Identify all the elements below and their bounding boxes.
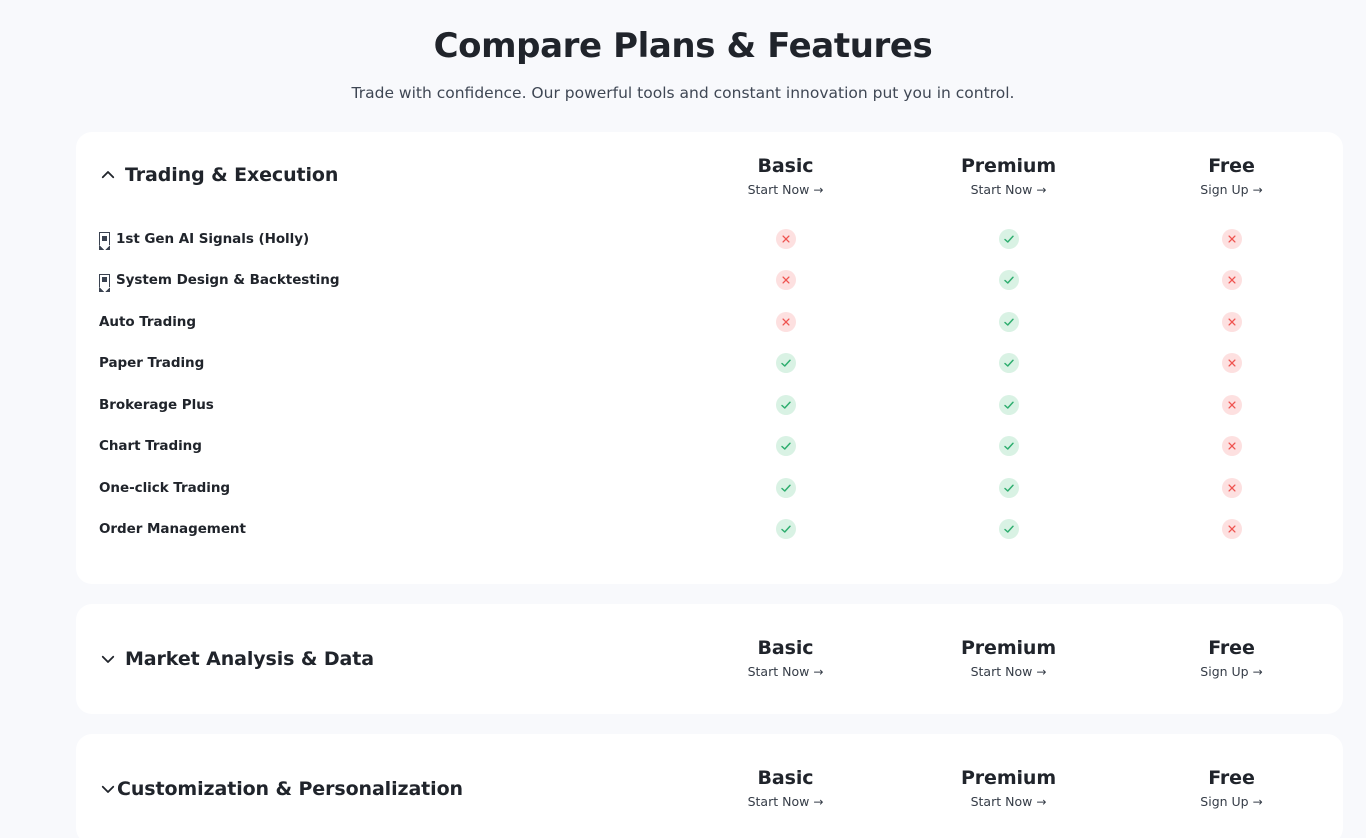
feature-row: One-click Trading [76, 467, 1343, 509]
feature-cell-premium [897, 270, 1120, 290]
cross-icon [1222, 436, 1242, 456]
feature-name: Order Management [99, 521, 674, 537]
check-icon [999, 395, 1019, 415]
feature-cell-basic [674, 478, 897, 498]
feature-cell-basic [674, 519, 897, 539]
badge-icon [99, 274, 110, 287]
arrow-right-icon: → [1253, 795, 1263, 809]
feature-values [674, 312, 1343, 332]
feature-list: 1st Gen AI Signals (Holly)System Design … [76, 218, 1343, 550]
plan-cta-free[interactable]: Sign Up→ [1120, 794, 1343, 810]
feature-label: Chart Trading [99, 438, 202, 454]
feature-cell-premium [897, 478, 1120, 498]
plan-column-free: FreeSign Up→ [1120, 766, 1343, 810]
plan-cta-label: Sign Up [1200, 182, 1248, 197]
plan-cta-free[interactable]: Sign Up→ [1120, 664, 1343, 680]
check-icon [776, 519, 796, 539]
feature-name: Brokerage Plus [99, 397, 674, 413]
plan-name: Free [1120, 636, 1343, 660]
feature-cell-free [1120, 436, 1343, 456]
plan-cta-premium[interactable]: Start Now→ [897, 664, 1120, 680]
cross-icon [1222, 270, 1242, 290]
feature-cell-premium [897, 519, 1120, 539]
feature-row: Auto Trading [76, 301, 1343, 343]
plan-column-premium: PremiumStart Now→ [897, 154, 1120, 198]
feature-cell-premium [897, 395, 1120, 415]
chevron-down-icon[interactable] [99, 650, 117, 668]
plan-cta-basic[interactable]: Start Now→ [674, 182, 897, 198]
badge-icon [99, 232, 110, 245]
section-title-label: Trading & Execution [125, 164, 338, 186]
check-icon [999, 478, 1019, 498]
feature-cell-basic [674, 436, 897, 456]
feature-cell-premium [897, 436, 1120, 456]
check-icon [776, 395, 796, 415]
plan-column-basic: BasicStart Now→ [674, 766, 897, 810]
plan-cta-premium[interactable]: Start Now→ [897, 794, 1120, 810]
feature-values [674, 519, 1343, 539]
feature-values [674, 436, 1343, 456]
check-icon [776, 478, 796, 498]
feature-label: Brokerage Plus [99, 397, 214, 413]
plan-name: Basic [674, 636, 897, 660]
plan-columns: BasicStart Now→PremiumStart Now→FreeSign… [674, 638, 1343, 680]
feature-cell-free [1120, 270, 1343, 290]
check-icon [999, 229, 1019, 249]
feature-label: 1st Gen AI Signals (Holly) [116, 231, 309, 247]
plan-cta-label: Start Now [971, 794, 1033, 809]
plan-cta-basic[interactable]: Start Now→ [674, 794, 897, 810]
plan-column-free: FreeSign Up→ [1120, 154, 1343, 198]
check-icon [999, 312, 1019, 332]
check-icon [999, 519, 1019, 539]
feature-cell-basic [674, 312, 897, 332]
arrow-right-icon: → [1253, 665, 1263, 679]
feature-values [674, 353, 1343, 373]
feature-cell-premium [897, 353, 1120, 373]
feature-cell-free [1120, 229, 1343, 249]
arrow-right-icon: → [1253, 183, 1263, 197]
cross-icon [776, 312, 796, 332]
plan-column-premium: PremiumStart Now→ [897, 636, 1120, 680]
feature-label: Order Management [99, 521, 246, 537]
feature-cell-premium [897, 312, 1120, 332]
section-title-label: Market Analysis & Data [125, 648, 374, 670]
feature-row: System Design & Backtesting [76, 260, 1343, 302]
plan-cta-label: Sign Up [1200, 794, 1248, 809]
feature-row: Brokerage Plus [76, 384, 1343, 426]
feature-cell-free [1120, 519, 1343, 539]
feature-name: System Design & Backtesting [99, 272, 674, 288]
feature-values [674, 229, 1343, 249]
feature-name: Paper Trading [99, 355, 674, 371]
arrow-right-icon: → [1036, 665, 1046, 679]
section-toggle-trading-execution[interactable]: Trading & Execution [99, 154, 674, 186]
plan-name: Free [1120, 766, 1343, 790]
check-icon [776, 353, 796, 373]
feature-row: 1st Gen AI Signals (Holly) [76, 218, 1343, 260]
section-card-market-analysis-data: Market Analysis & DataBasicStart Now→Pre… [76, 604, 1343, 714]
feature-values [674, 270, 1343, 290]
cross-icon [776, 229, 796, 249]
plan-cta-free[interactable]: Sign Up→ [1120, 182, 1343, 198]
plan-cta-premium[interactable]: Start Now→ [897, 182, 1120, 198]
comparison-cards: Trading & ExecutionBasicStart Now→Premiu… [0, 132, 1366, 838]
arrow-right-icon: → [1036, 795, 1046, 809]
check-icon [776, 436, 796, 456]
feature-values [674, 478, 1343, 498]
section-header-row: Trading & ExecutionBasicStart Now→Premiu… [76, 154, 1343, 198]
plan-cta-label: Start Now [971, 182, 1033, 197]
plan-cta-label: Sign Up [1200, 664, 1248, 679]
cross-icon [776, 270, 796, 290]
arrow-right-icon: → [813, 795, 823, 809]
cross-icon [1222, 519, 1242, 539]
section-card-customization-personalization: Customization & PersonalizationBasicStar… [76, 734, 1343, 838]
plan-name: Premium [897, 154, 1120, 178]
section-card-trading-execution: Trading & ExecutionBasicStart Now→Premiu… [76, 132, 1343, 584]
feature-cell-premium [897, 229, 1120, 249]
feature-label: System Design & Backtesting [116, 272, 339, 288]
plan-name: Basic [674, 154, 897, 178]
cross-icon [1222, 229, 1242, 249]
plan-name: Premium [897, 766, 1120, 790]
plan-name: Free [1120, 154, 1343, 178]
feature-name: Chart Trading [99, 438, 674, 454]
feature-name: Auto Trading [99, 314, 674, 330]
plan-column-premium: PremiumStart Now→ [897, 766, 1120, 810]
page-subtitle: Trade with confidence. Our powerful tool… [0, 82, 1366, 104]
cross-icon [1222, 312, 1242, 332]
feature-row: Order Management [76, 509, 1343, 551]
feature-cell-basic [674, 353, 897, 373]
plan-cta-label: Start Now [748, 664, 810, 679]
plan-name: Basic [674, 766, 897, 790]
cross-icon [1222, 353, 1242, 373]
check-icon [999, 436, 1019, 456]
arrow-right-icon: → [1036, 183, 1046, 197]
feature-cell-free [1120, 312, 1343, 332]
plan-column-basic: BasicStart Now→ [674, 636, 897, 680]
check-icon [999, 353, 1019, 373]
feature-cell-free [1120, 478, 1343, 498]
feature-row: Paper Trading [76, 343, 1343, 385]
feature-name: 1st Gen AI Signals (Holly) [99, 231, 674, 247]
compare-plans-page: Compare Plans & Features Trade with conf… [0, 0, 1366, 838]
plan-columns: BasicStart Now→PremiumStart Now→FreeSign… [674, 154, 1343, 198]
feature-cell-free [1120, 353, 1343, 373]
section-title-label: Customization & Personalization [117, 778, 463, 800]
feature-cell-basic [674, 395, 897, 415]
chevron-up-icon[interactable] [99, 166, 117, 184]
feature-cell-basic [674, 229, 897, 249]
section-header-row: Customization & PersonalizationBasicStar… [76, 768, 1343, 810]
check-icon [999, 270, 1019, 290]
section-header-row: Market Analysis & DataBasicStart Now→Pre… [76, 638, 1343, 680]
plan-cta-label: Start Now [971, 664, 1033, 679]
feature-row: Chart Trading [76, 426, 1343, 468]
section-toggle-market-analysis-data[interactable]: Market Analysis & Data [99, 648, 674, 670]
cross-icon [1222, 478, 1242, 498]
arrow-right-icon: → [813, 665, 823, 679]
plan-cta-label: Start Now [748, 182, 810, 197]
feature-label: One-click Trading [99, 480, 230, 496]
plan-cta-basic[interactable]: Start Now→ [674, 664, 897, 680]
plan-cta-label: Start Now [748, 794, 810, 809]
feature-label: Auto Trading [99, 314, 196, 330]
plan-name: Premium [897, 636, 1120, 660]
feature-cell-basic [674, 270, 897, 290]
section-toggle-customization-personalization[interactable]: Customization & Personalization [99, 778, 674, 800]
plan-columns: BasicStart Now→PremiumStart Now→FreeSign… [674, 768, 1343, 810]
feature-cell-free [1120, 395, 1343, 415]
page-title: Compare Plans & Features [0, 24, 1366, 68]
page-header: Compare Plans & Features Trade with conf… [0, 0, 1366, 104]
arrow-right-icon: → [813, 183, 823, 197]
cross-icon [1222, 395, 1242, 415]
feature-label: Paper Trading [99, 355, 204, 371]
feature-values [674, 395, 1343, 415]
plan-column-free: FreeSign Up→ [1120, 636, 1343, 680]
feature-name: One-click Trading [99, 480, 674, 496]
plan-column-basic: BasicStart Now→ [674, 154, 897, 198]
chevron-down-icon[interactable] [99, 780, 117, 798]
